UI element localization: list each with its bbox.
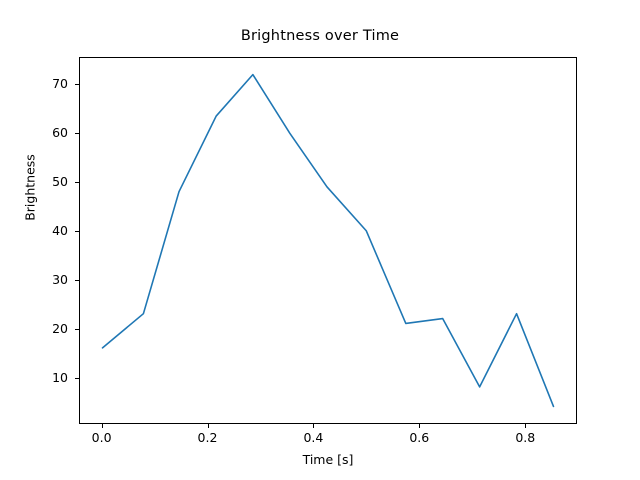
line-series-svg	[80, 58, 576, 423]
x-tick-mark	[208, 424, 209, 428]
x-tick-label: 0.6	[389, 430, 449, 445]
y-tick-mark	[75, 182, 79, 183]
x-tick-label: 0.0	[72, 430, 132, 445]
x-tick-mark	[313, 424, 314, 428]
x-tick-mark	[419, 424, 420, 428]
x-tick-label: 0.2	[178, 430, 238, 445]
y-tick-mark	[75, 231, 79, 232]
y-tick-label: 10	[0, 370, 68, 385]
x-tick-label: 0.8	[495, 430, 555, 445]
y-tick-mark	[75, 329, 79, 330]
x-tick-mark	[525, 424, 526, 428]
x-axis-label: Time [s]	[79, 452, 577, 467]
y-tick-mark	[75, 133, 79, 134]
x-tick-label: 0.4	[283, 430, 343, 445]
y-tick-label: 20	[0, 321, 68, 336]
brightness-line	[103, 75, 554, 407]
y-tick-mark	[75, 280, 79, 281]
y-tick-mark	[75, 84, 79, 85]
plot-area	[79, 57, 577, 424]
chart-figure: Brightness over Time 0.00.20.40.60.8 102…	[0, 0, 640, 480]
chart-title: Brightness over Time	[0, 28, 640, 44]
y-axis-label: Brightness	[23, 88, 38, 288]
y-tick-mark	[75, 378, 79, 379]
x-tick-mark	[102, 424, 103, 428]
